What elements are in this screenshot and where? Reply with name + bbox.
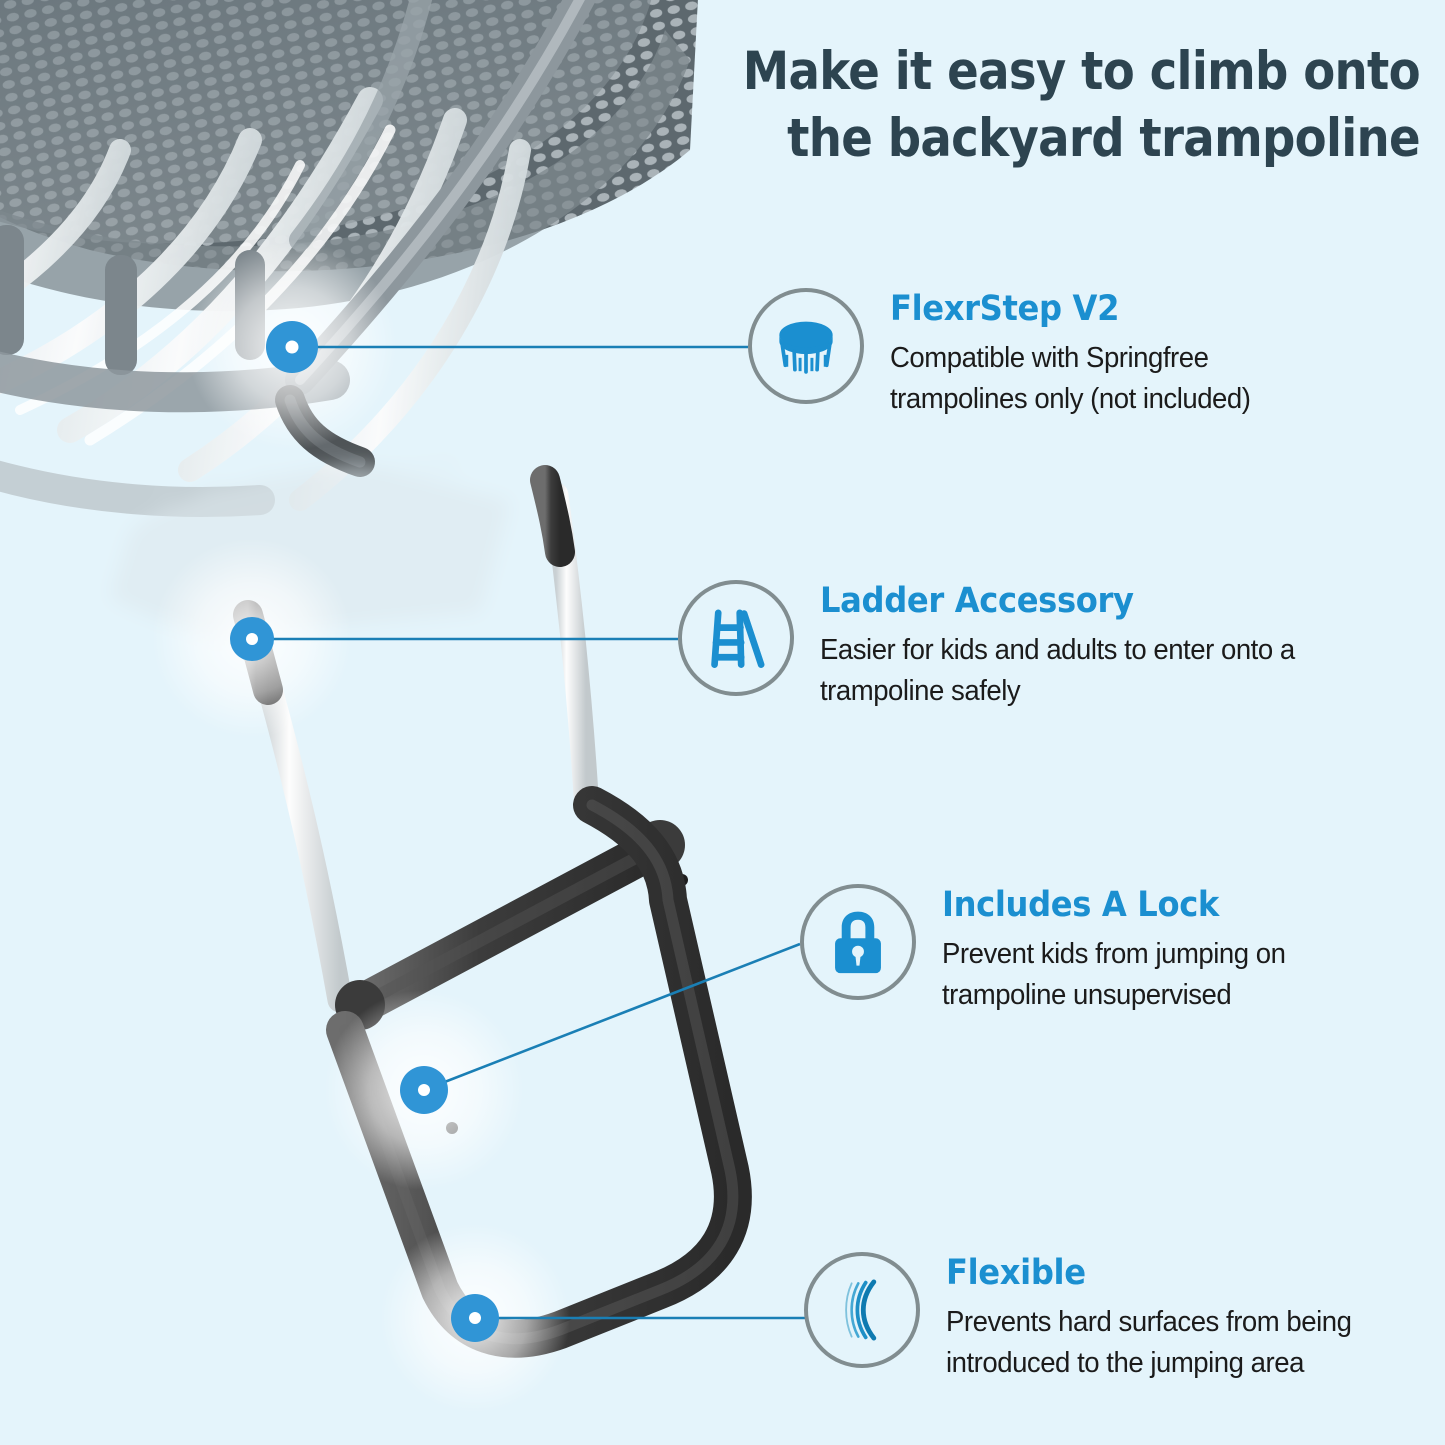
feature-icon-wrap-2 bbox=[674, 576, 798, 700]
feature-item-includes-a-lock: Includes A Lock Prevent kids from jumpin… bbox=[796, 880, 1304, 1017]
feature-description-1: Compatible with Springfree trampolines o… bbox=[890, 338, 1250, 422]
product-image: springfree bbox=[0, 0, 880, 1445]
ladder-lower-frame bbox=[345, 805, 733, 1339]
trampoline-body bbox=[0, 0, 740, 502]
feature-description-2: Easier for kids and adults to enter onto… bbox=[820, 630, 1295, 714]
callout-dot-3 bbox=[400, 1066, 448, 1114]
feature-text-3: Includes A Lock Prevent kids from jumpin… bbox=[920, 880, 1304, 1017]
headline-line-2: the backyard trampoline bbox=[742, 105, 1420, 172]
feature-desc-line-3a: Prevent kids from jumping on bbox=[942, 934, 1285, 976]
feature-desc-line-3b: trampoline unsupervised bbox=[942, 975, 1285, 1017]
feature-desc-line-2a: Easier for kids and adults to enter onto… bbox=[820, 630, 1295, 672]
callout-dot-1 bbox=[266, 321, 318, 373]
page-title: Make it easy to climb onto the backyard … bbox=[742, 38, 1420, 173]
feature-icon-wrap-3 bbox=[796, 880, 920, 1004]
ladder-rails bbox=[248, 480, 600, 1000]
feature-desc-line-1a: Compatible with Springfree bbox=[890, 338, 1250, 380]
callout-dot-2 bbox=[230, 617, 274, 661]
feature-item-flexible: Flexible Prevents hard surfaces from bei… bbox=[800, 1248, 1373, 1385]
callout-dots bbox=[230, 321, 499, 1342]
ladder-icon bbox=[699, 601, 773, 675]
feature-description-3: Prevent kids from jumping on trampoline … bbox=[942, 934, 1285, 1018]
step-attachment-arm bbox=[290, 400, 360, 462]
feature-title-4: Flexible bbox=[946, 1254, 1339, 1293]
feature-title-2: Ladder Accessory bbox=[820, 582, 1280, 621]
feature-text-4: Flexible Prevents hard surfaces from bei… bbox=[924, 1248, 1373, 1385]
headline-line-1: Make it easy to climb onto bbox=[742, 38, 1420, 105]
feature-title-1: FlexrStep V2 bbox=[890, 290, 1239, 329]
feature-text-1: FlexrStep V2 Compatible with Springfree … bbox=[868, 284, 1269, 421]
feature-icon-wrap-4 bbox=[800, 1248, 924, 1372]
feature-text-2: Ladder Accessory Easier for kids and adu… bbox=[798, 576, 1320, 713]
connector-line-3 bbox=[424, 944, 800, 1090]
callout-glow-group bbox=[152, 240, 570, 1413]
callout-dot-4 bbox=[451, 1294, 499, 1342]
callout-connectors bbox=[0, 0, 1445, 1445]
feature-desc-line-1b: trampolines only (not included) bbox=[890, 379, 1250, 421]
feature-description-4: Prevents hard surfaces from being introd… bbox=[946, 1302, 1351, 1386]
feature-icon-wrap-1 bbox=[744, 284, 868, 408]
flex-arcs-icon bbox=[825, 1273, 899, 1347]
feature-item-flexrstep-v2: FlexrStep V2 Compatible with Springfree … bbox=[744, 284, 1269, 421]
feature-desc-line-4a: Prevents hard surfaces from being bbox=[946, 1302, 1351, 1344]
feature-desc-line-4b: introduced to the jumping area bbox=[946, 1343, 1351, 1385]
feature-item-ladder-accessory: Ladder Accessory Easier for kids and adu… bbox=[674, 576, 1320, 713]
trampoline-icon bbox=[769, 309, 843, 383]
ladder-middle-rung bbox=[335, 820, 688, 1030]
feature-desc-line-2b: trampoline safely bbox=[820, 671, 1295, 713]
step-platform: springfree bbox=[100, 446, 500, 627]
svg-text:springfree: springfree bbox=[181, 524, 301, 565]
product-feature-infographic: springfree bbox=[0, 0, 1445, 1445]
feature-title-3: Includes A Lock bbox=[942, 886, 1275, 925]
lock-icon bbox=[821, 905, 895, 979]
